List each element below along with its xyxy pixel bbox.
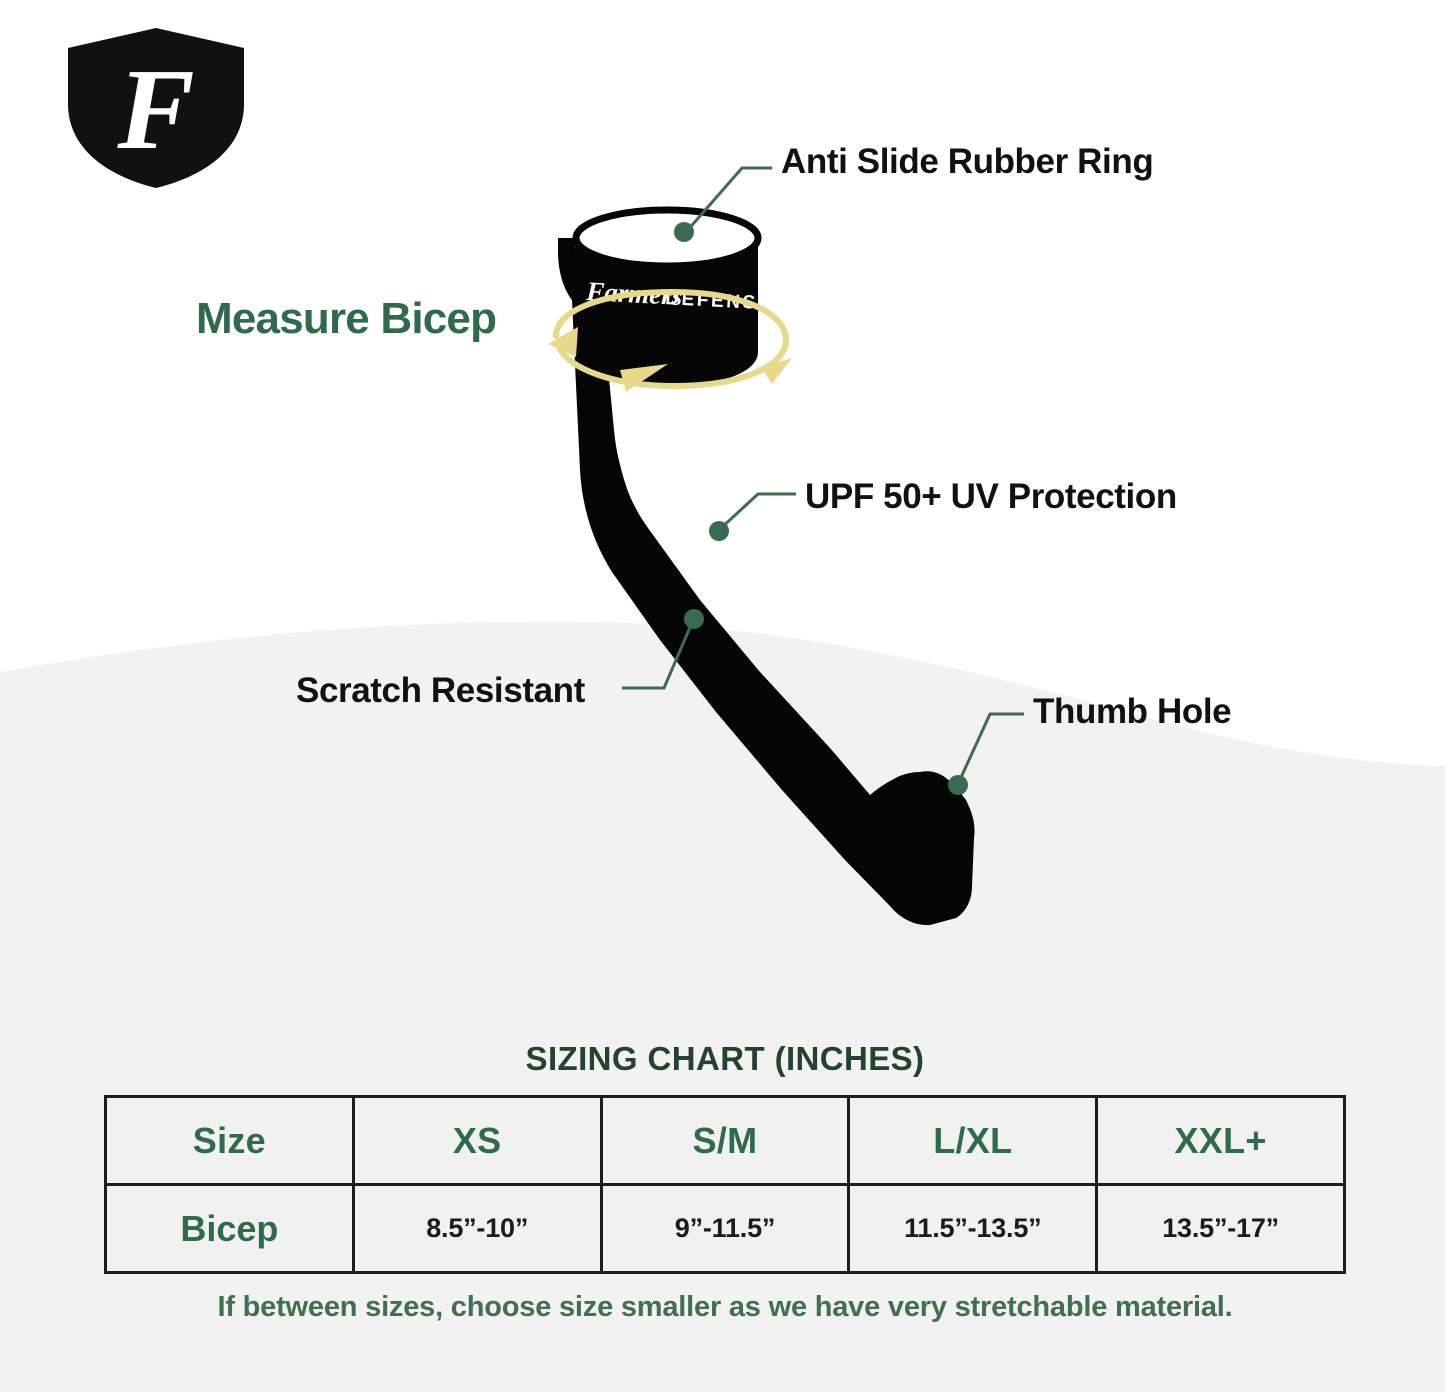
dot-thumb: [948, 775, 968, 795]
table-header-row: Size XS S/M L/XL XXL+: [106, 1097, 1345, 1185]
table-row-label-bicep: Bicep: [106, 1185, 354, 1273]
sizing-chart-table: Size XS S/M L/XL XXL+ Bicep 8.5”-10” 9”-…: [104, 1095, 1346, 1274]
table-row: Bicep 8.5”-10” 9”-11.5” 11.5”-13.5” 13.5…: [106, 1185, 1345, 1273]
table-cell-bicep-lxl: 11.5”-13.5”: [849, 1185, 1097, 1273]
table-header-size: Size: [106, 1097, 354, 1185]
table-header-xs: XS: [353, 1097, 601, 1185]
leader-upf: [719, 494, 796, 530]
dot-scratch: [684, 609, 704, 629]
sleeve-opening: [576, 210, 758, 266]
shield-logo: F: [52, 18, 260, 198]
dot-upf: [709, 521, 729, 541]
sleeve-silhouette: [558, 210, 975, 925]
callout-label-anti-slide-rubber-ring: Anti Slide Rubber Ring: [781, 142, 1153, 182]
table-header-sm: S/M: [601, 1097, 849, 1185]
dot-rubber-ring: [674, 222, 694, 242]
callout-label-scratch-resistant: Scratch Resistant: [296, 671, 585, 711]
measure-bicep-label: Measure Bicep: [196, 294, 496, 344]
callout-label-upf-uv-protection: UPF 50+ UV Protection: [805, 477, 1177, 517]
table-cell-bicep-xs: 8.5”-10”: [353, 1185, 601, 1273]
table-cell-bicep-xxl: 13.5”-17”: [1097, 1185, 1345, 1273]
table-header-lxl: L/XL: [849, 1097, 1097, 1185]
sizing-chart-title: SIZING CHART (INCHES): [104, 1040, 1346, 1078]
leader-thumb: [958, 714, 1024, 784]
table-cell-bicep-sm: 9”-11.5”: [601, 1185, 849, 1273]
callout-label-thumb-hole: Thumb Hole: [1033, 692, 1231, 732]
table-header-xxl: XXL+: [1097, 1097, 1345, 1185]
logo-letter-f: F: [116, 46, 194, 174]
sizing-chart-note: If between sizes, choose size smaller as…: [104, 1291, 1346, 1324]
sizing-chart-block: SIZING CHART (INCHES) Size XS S/M L/XL X…: [104, 1040, 1346, 1324]
